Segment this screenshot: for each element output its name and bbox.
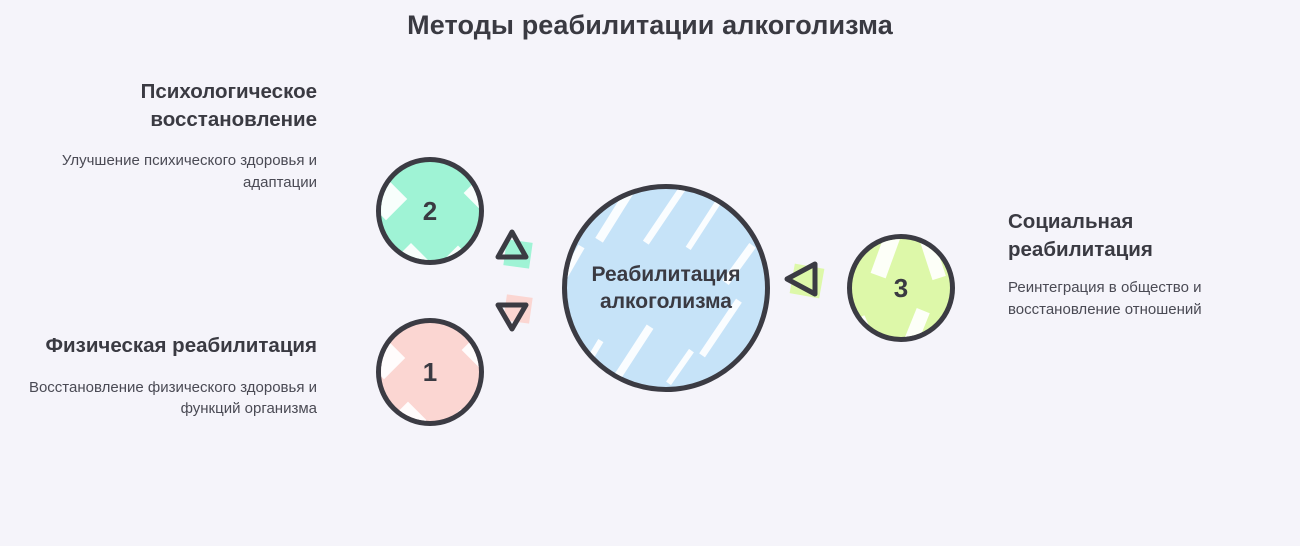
texture-streak	[595, 185, 635, 242]
block-psychological-body: Улучшение психического здоровья и адапта…	[27, 150, 317, 194]
block-social-body: Реинтеграция в общество и восстановление…	[1008, 277, 1258, 321]
texture-patch	[376, 337, 405, 379]
texture-patch	[394, 243, 428, 265]
step-circle-1-number: 1	[423, 357, 437, 388]
step-circle-2-number: 2	[423, 196, 437, 227]
texture-streak	[666, 349, 694, 385]
texture-patch	[376, 178, 407, 220]
center-circle-label: Реабилитация алкоголизма	[571, 261, 761, 316]
texture-streak	[643, 184, 690, 245]
texture-patch	[850, 315, 878, 342]
triangle-up-icon	[494, 228, 538, 272]
texture-streak	[573, 339, 604, 385]
block-social-heading: Социальная реабилитация	[1008, 208, 1258, 263]
block-physical-heading: Физическая реабилитация	[27, 332, 317, 360]
texture-patch	[920, 238, 946, 280]
texture-patch	[442, 245, 473, 265]
block-physical-body: Восстановление физического здоровья и фу…	[27, 377, 317, 421]
texture-patch	[462, 332, 484, 369]
texture-streak	[609, 324, 654, 387]
texture-patch	[447, 409, 475, 426]
texture-patch	[900, 308, 929, 342]
step-circle-3[interactable]: 3	[847, 234, 955, 342]
block-social: Социальная реабилитация Реинтеграция в о…	[1008, 208, 1258, 321]
step-circle-2[interactable]: 2	[376, 157, 484, 265]
texture-patch	[464, 175, 484, 212]
center-circle[interactable]: Реабилитация алкоголизма	[562, 184, 770, 392]
texture-patch	[390, 402, 427, 426]
step-circle-1[interactable]: 1	[376, 318, 484, 426]
block-physical: Физическая реабилитация Восстановление ф…	[27, 332, 317, 420]
triangle-left-icon	[782, 258, 832, 304]
block-psychological-heading: Психологическое восстановление	[27, 78, 317, 133]
step-circle-3-number: 3	[894, 273, 908, 304]
texture-streak	[686, 198, 723, 250]
page-title: Методы реабилитации алкоголизма	[0, 10, 1300, 41]
block-psychological: Психологическое восстановление Улучшение…	[27, 78, 317, 194]
infographic-canvas: Методы реабилитации алкоголизма Психолог…	[0, 0, 1300, 546]
triangle-down-icon	[494, 300, 538, 344]
